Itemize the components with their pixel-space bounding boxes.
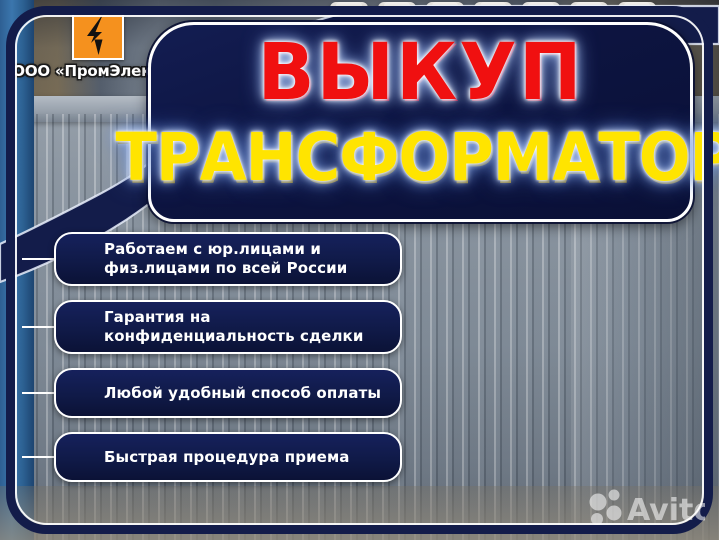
list-item: Работаем с юр.лицами и физ.лицами по все… bbox=[22, 232, 402, 286]
benefits-list: Работаем с юр.лицами и физ.лицами по все… bbox=[22, 232, 402, 496]
list-item-box: Гарантия на конфиденциальность сделки bbox=[54, 300, 402, 354]
list-item: Любой удобный способ оплаты bbox=[22, 368, 402, 418]
list-item-box: Быстрая процедура приема bbox=[54, 432, 402, 482]
list-item-label: Гарантия на конфиденциальность сделки bbox=[104, 308, 386, 346]
poster-image: ООО «ПромЭлектро» ВЫКУП ТРАНСФОРМАТОРОВ … bbox=[0, 0, 719, 540]
high-voltage-lightning-icon bbox=[72, 8, 124, 60]
headline-panel: ВЫКУП ТРАНСФОРМАТОРОВ bbox=[148, 22, 693, 222]
headline-line-1: ВЫКУП bbox=[162, 31, 679, 115]
list-item: Быстрая процедура приема bbox=[22, 432, 402, 482]
list-item-box: Работаем с юр.лицами и физ.лицами по все… bbox=[54, 232, 402, 286]
list-item: Гарантия на конфиденциальность сделки bbox=[22, 300, 402, 354]
headline-line-2: ТРАНСФОРМАТОРОВ bbox=[116, 121, 719, 195]
lightning-bolt-glyph bbox=[74, 10, 122, 58]
list-item-label: Любой удобный способ оплаты bbox=[104, 384, 381, 403]
list-item-label: Работаем с юр.лицами и физ.лицами по все… bbox=[104, 240, 386, 278]
list-item-label: Быстрая процедура приема bbox=[104, 448, 350, 467]
list-item-box: Любой удобный способ оплаты bbox=[54, 368, 402, 418]
